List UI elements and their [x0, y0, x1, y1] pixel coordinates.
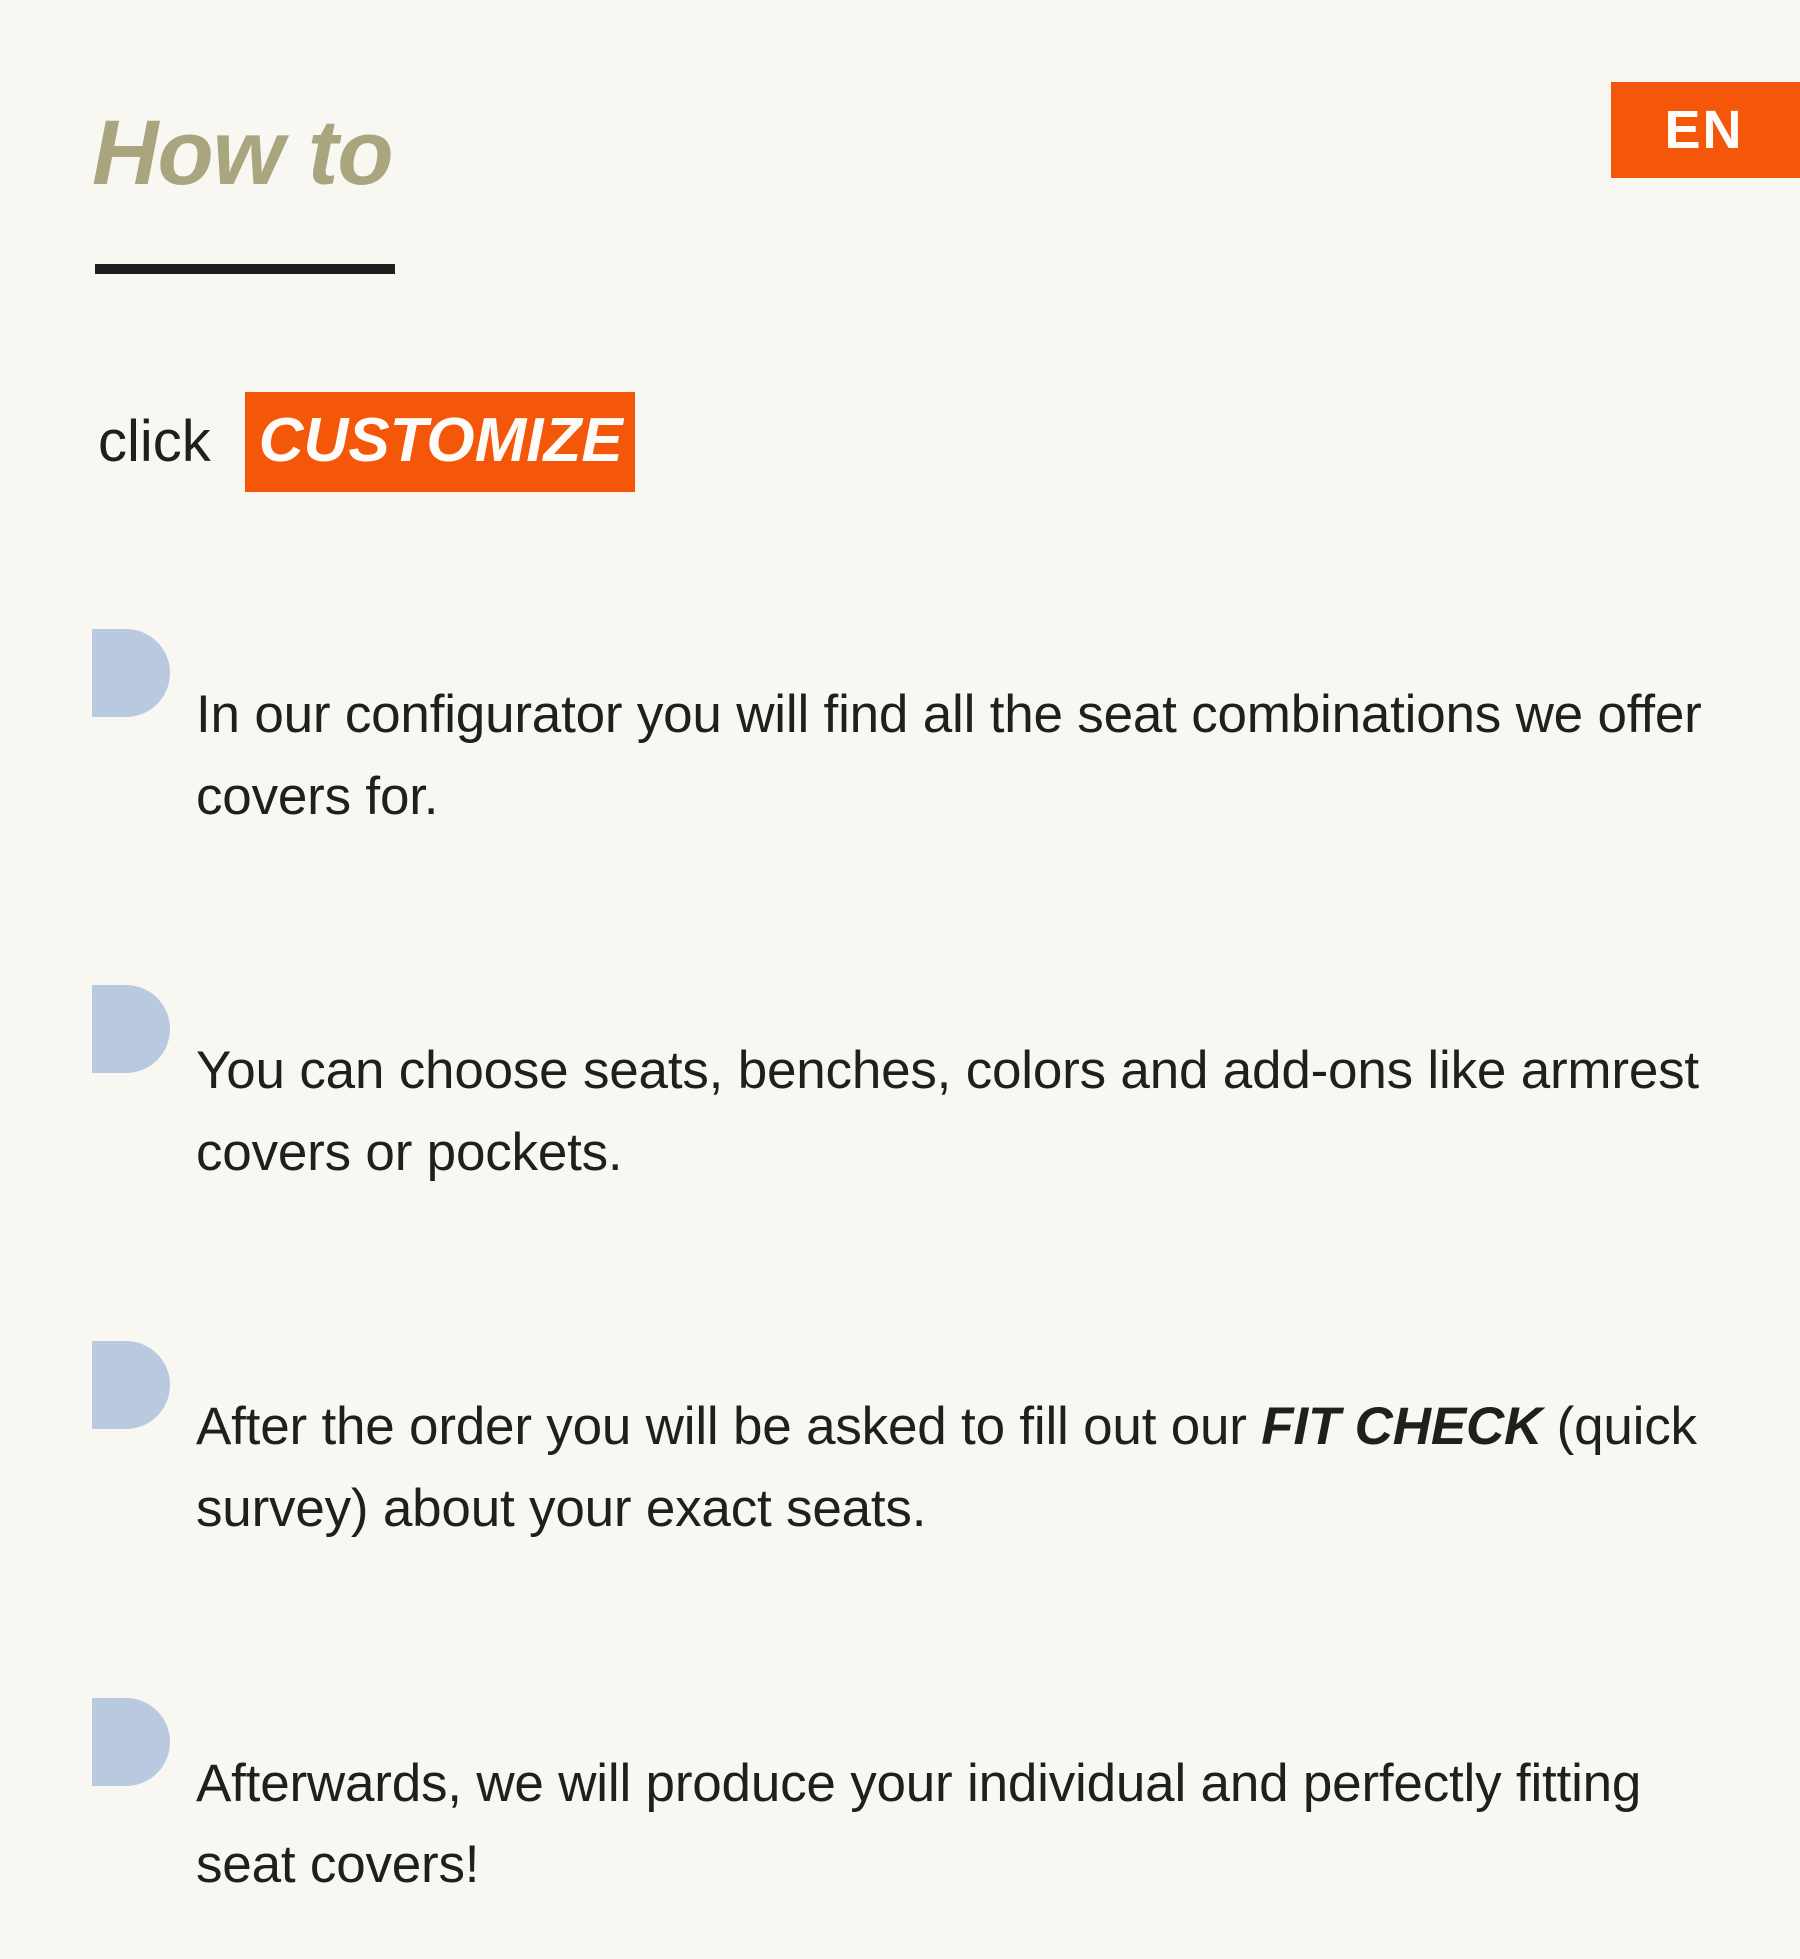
- d-shape-bullet-icon: [92, 629, 170, 717]
- d-shape-bullet-icon: [92, 985, 170, 1073]
- step-text: After the order you will be asked to fil…: [196, 1386, 1732, 1549]
- step-text-before: You can choose seats, benches, colors an…: [196, 1041, 1699, 1182]
- page-title: How to: [92, 105, 393, 202]
- d-shape-bullet-icon: [92, 1341, 170, 1429]
- fit-check-emphasis: FIT CHECK: [1261, 1397, 1542, 1456]
- heading-block: How to: [92, 105, 393, 202]
- language-badge[interactable]: EN: [1611, 82, 1800, 178]
- list-item: You can choose seats, benches, colors an…: [92, 977, 1732, 1246]
- list-item: Afterwards, we will produce your individ…: [92, 1690, 1732, 1959]
- list-item: After the order you will be asked to fil…: [92, 1333, 1732, 1602]
- cta-line: click CUSTOMIZE: [98, 392, 635, 492]
- step-text-before: Afterwards, we will produce your individ…: [196, 1754, 1641, 1895]
- list-item: In our configurator you will find all th…: [92, 621, 1732, 890]
- language-badge-label: EN: [1664, 103, 1743, 157]
- customize-button[interactable]: CUSTOMIZE: [245, 392, 635, 492]
- step-text: Afterwards, we will produce your individ…: [196, 1743, 1732, 1906]
- steps-list: In our configurator you will find all th…: [92, 621, 1732, 1959]
- step-text-before: After the order you will be asked to fil…: [196, 1397, 1261, 1456]
- page-root: EN How to click CUSTOMIZE In our configu…: [0, 0, 1800, 1800]
- step-text: You can choose seats, benches, colors an…: [196, 1030, 1732, 1193]
- cta-prefix-label: click: [98, 413, 211, 471]
- heading-underline: [95, 264, 395, 274]
- step-text: In our configurator you will find all th…: [196, 674, 1732, 837]
- step-text-before: In our configurator you will find all th…: [196, 685, 1702, 826]
- d-shape-bullet-icon: [92, 1698, 170, 1786]
